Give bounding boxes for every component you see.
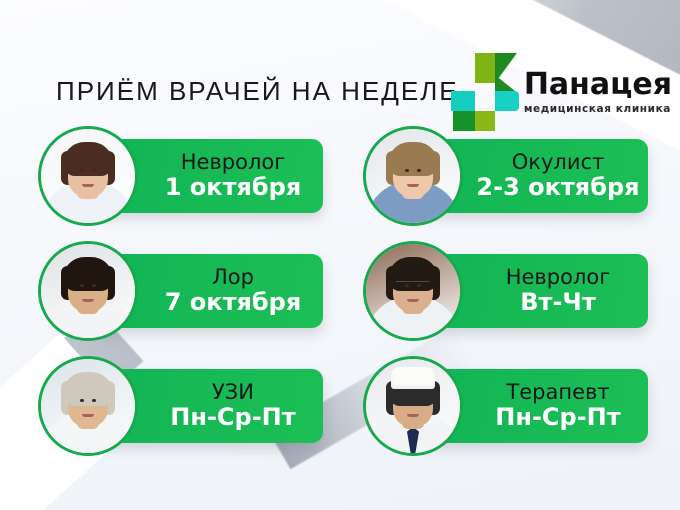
portrait-hair — [63, 372, 113, 406]
schedule-row: УЗИ Пн-Ср-Пт Терапевт Пн-Ср-Пт — [0, 356, 680, 471]
portrait-eye-right — [417, 169, 421, 172]
portrait-mouth — [407, 299, 419, 302]
portrait-hair — [63, 257, 113, 291]
portrait-eye-right — [92, 284, 96, 287]
portrait-eye-right — [92, 399, 96, 402]
portrait-eye-left — [80, 284, 84, 287]
doctor-card[interactable]: УЗИ Пн-Ср-Пт — [38, 356, 323, 456]
portrait-glasses — [396, 281, 430, 291]
portrait-eye-left — [405, 169, 409, 172]
clinic-logo: Панацея медицинская клиника — [451, 52, 672, 132]
schedule-label: Пн-Ср-Пт — [495, 404, 620, 430]
schedule-label: 1 октября — [165, 174, 302, 200]
avatar — [363, 356, 463, 456]
avatar — [38, 356, 138, 456]
portrait-hair — [63, 142, 113, 176]
specialty-label: Лор — [212, 266, 254, 288]
doctor-card[interactable]: Терапевт Пн-Ср-Пт — [363, 356, 648, 456]
poster-canvas: ПРИЁМ ВРАЧЕЙ НА НЕДЕЛЕ Панацея медицинск… — [0, 0, 680, 510]
portrait-mouth — [82, 184, 94, 187]
schedule-grid: Невролог 1 октября Окулист 2-3 октября — [0, 126, 680, 471]
portrait-eye-left — [80, 399, 84, 402]
portrait-eye-left — [80, 169, 84, 172]
doctor-card[interactable]: Окулист 2-3 октября — [363, 126, 648, 226]
schedule-label: Пн-Ср-Пт — [170, 404, 295, 430]
avatar — [363, 241, 463, 341]
page-title: ПРИЁМ ВРАЧЕЙ НА НЕДЕЛЕ — [56, 76, 459, 107]
schedule-label: 7 октября — [165, 289, 302, 315]
doctor-card[interactable]: Невролог Вт-Чт — [363, 241, 648, 341]
poster-header: ПРИЁМ ВРАЧЕЙ НА НЕДЕЛЕ Панацея медицинск… — [0, 70, 680, 134]
doctor-card[interactable]: Невролог 1 октября — [38, 126, 323, 226]
portrait-eye-right — [92, 169, 96, 172]
medical-cross-icon — [451, 53, 517, 131]
specialty-label: Невролог — [181, 151, 286, 173]
specialty-label: Невролог — [506, 266, 611, 288]
avatar — [38, 126, 138, 226]
specialty-label: УЗИ — [212, 381, 254, 403]
schedule-label: Вт-Чт — [520, 289, 595, 315]
portrait-surgical-cap — [391, 367, 435, 389]
portrait-eye-right — [417, 399, 421, 402]
logo-subtitle: медицинская клиника — [524, 104, 672, 115]
portrait-mouth — [407, 184, 419, 187]
schedule-row: Невролог 1 октября Окулист 2-3 октября — [0, 126, 680, 241]
specialty-label: Окулист — [512, 151, 605, 173]
portrait-hair — [388, 142, 438, 176]
portrait-mouth — [82, 414, 94, 417]
portrait-eye-left — [405, 399, 409, 402]
schedule-row: Лор 7 октября Невролог Вт-Чт — [0, 241, 680, 356]
logo-name: Панацея — [524, 70, 672, 100]
avatar — [38, 241, 138, 341]
schedule-label: 2-3 октября — [476, 174, 639, 200]
portrait-mouth — [407, 414, 419, 417]
avatar — [363, 126, 463, 226]
portrait-mouth — [82, 299, 94, 302]
doctor-card[interactable]: Лор 7 октября — [38, 241, 323, 341]
specialty-label: Терапевт — [506, 381, 609, 403]
